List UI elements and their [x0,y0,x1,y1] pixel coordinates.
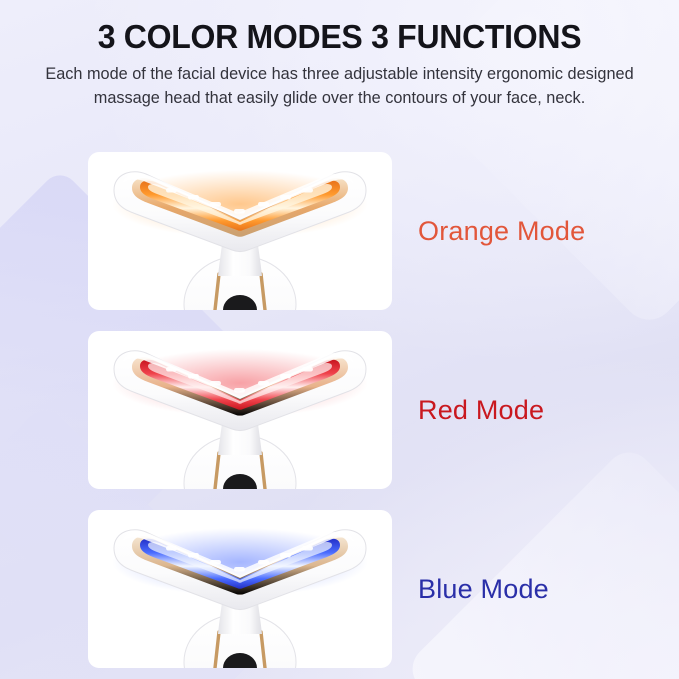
device-image-blue [88,510,392,668]
header: 3 COLOR MODES 3 FUNCTIONS Each mode of t… [0,0,679,110]
mode-label-blue: Blue Mode [418,510,549,668]
mode-row-red: Red Mode [0,331,679,489]
infographic-page: 3 COLOR MODES 3 FUNCTIONS Each mode of t… [0,0,679,679]
product-card-red [88,331,392,489]
device-image-orange [88,152,392,310]
product-card-blue [88,510,392,668]
page-subtitle: Each mode of the facial device has three… [44,57,636,110]
device-image-red [88,331,392,489]
page-title: 3 COLOR MODES 3 FUNCTIONS [10,0,669,57]
mode-row-blue: Blue Mode [0,510,679,668]
mode-row-orange: Orange Mode [0,152,679,310]
product-card-orange [88,152,392,310]
mode-label-orange: Orange Mode [418,152,585,310]
mode-label-red: Red Mode [418,331,544,489]
